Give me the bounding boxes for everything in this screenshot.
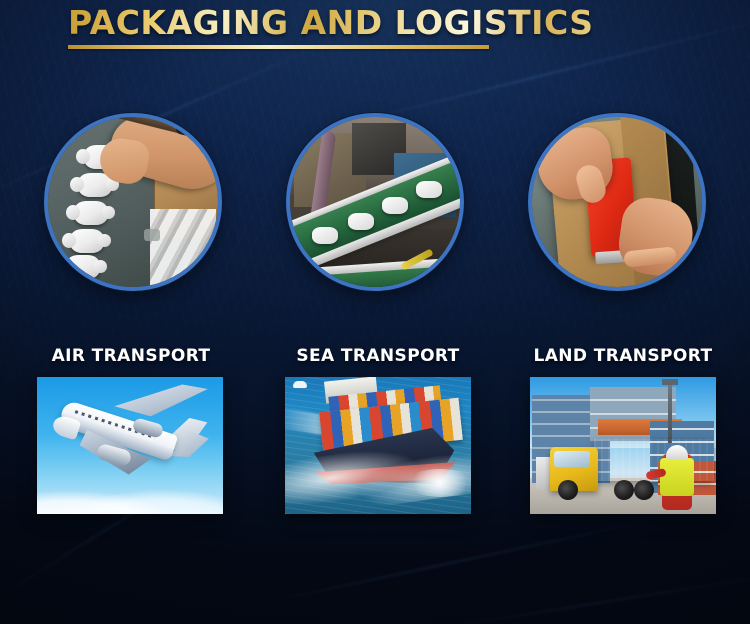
molded-part — [312, 227, 338, 244]
truck-wheel — [614, 480, 634, 500]
packaging-logistics-banner: PACKAGING AND LOGISTICS — [0, 0, 750, 624]
light-pole-head — [662, 379, 678, 385]
container-ship-scene — [285, 377, 471, 514]
carton-taping-image — [532, 117, 702, 287]
molded-part — [348, 213, 374, 230]
truck-wheel — [634, 480, 654, 500]
worker-hard-hat — [666, 445, 688, 460]
white-fitting — [70, 229, 104, 253]
white-pipe-stack — [150, 209, 216, 285]
white-fitting — [74, 201, 108, 225]
process-photo-production-conveyor — [286, 113, 464, 291]
page-title-block: PACKAGING AND LOGISTICS — [68, 4, 594, 49]
background-vignette — [0, 0, 750, 624]
distant-boat — [293, 381, 307, 388]
sea-transport-photo — [285, 377, 471, 514]
light-pole — [668, 381, 672, 443]
packing-assembly-image — [48, 117, 218, 287]
page-title: PACKAGING AND LOGISTICS — [68, 4, 594, 42]
process-photo-carton-taping — [528, 113, 706, 291]
transport-label-air: AIR TRANSPORT — [38, 346, 224, 366]
table-clip — [144, 229, 160, 241]
title-underline — [68, 45, 489, 49]
molded-part — [416, 181, 442, 198]
worker-safety-vest — [660, 458, 694, 496]
process-photo-packing-assembly — [44, 113, 222, 291]
bow-spray — [405, 469, 471, 497]
airplane-far-wing — [114, 380, 208, 420]
transport-label-sea: SEA TRANSPORT — [285, 346, 471, 366]
land-transport-photo — [530, 377, 716, 514]
airplane-scene — [37, 377, 223, 514]
truck-container-yard-scene — [530, 377, 716, 514]
transport-label-land: LAND TRANSPORT — [530, 346, 716, 366]
white-fitting — [66, 255, 100, 279]
air-transport-photo — [37, 377, 223, 514]
production-conveyor-image — [290, 117, 460, 287]
truck-windshield — [554, 451, 590, 467]
cloud-bank — [37, 480, 223, 514]
molded-part — [382, 197, 408, 214]
truck-wheel — [558, 480, 578, 500]
